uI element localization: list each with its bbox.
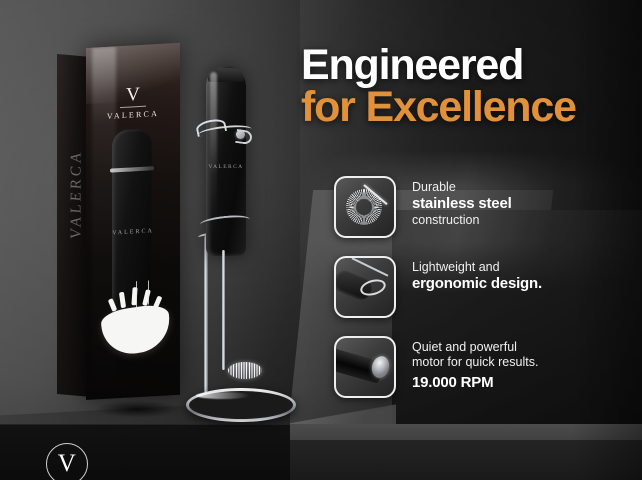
motor-cylinder-icon bbox=[334, 336, 396, 398]
feature-line-2: stainless steel bbox=[412, 195, 512, 213]
box-monogram: V bbox=[86, 83, 180, 107]
feature-line-1: Quiet and powerful bbox=[412, 340, 538, 355]
feature-text: Durable stainless steel construction bbox=[412, 176, 512, 228]
splash-drip-2 bbox=[148, 280, 149, 304]
milk-frother-product: VALERCA bbox=[196, 66, 254, 266]
box-side-panel: VALERCA bbox=[57, 54, 87, 397]
frother-whisk-coil bbox=[228, 362, 262, 379]
splash-crown-2 bbox=[119, 292, 126, 309]
feature-line-1: Lightweight and bbox=[412, 260, 542, 275]
box-floor-shadow bbox=[77, 398, 197, 420]
stand-ring-highlight bbox=[196, 392, 250, 399]
feature-line-3: 19.000 RPM bbox=[412, 374, 538, 392]
frother-whisk-shaft bbox=[222, 250, 225, 370]
box-side-brand-text: VALERCA bbox=[69, 134, 86, 255]
handle-ergonomic-icon bbox=[334, 256, 396, 318]
right-edge-fade bbox=[572, 0, 642, 480]
splash-crown-4 bbox=[142, 289, 151, 306]
milk-splash-graphic bbox=[96, 279, 176, 361]
feature-line-3: construction bbox=[412, 213, 512, 228]
podium-left-face bbox=[0, 424, 290, 480]
splash-crown-1 bbox=[108, 298, 118, 312]
brand-emblem-circle: V bbox=[46, 443, 88, 480]
box-front-panel: V VALERCA VALERCA bbox=[86, 43, 180, 400]
whisk-coil-icon bbox=[334, 176, 396, 238]
splash-drip-1 bbox=[136, 281, 137, 311]
box-logo-rule bbox=[120, 106, 146, 108]
feature-line-1: Durable bbox=[412, 180, 512, 195]
frother-brand-text: VALERCA bbox=[206, 164, 246, 170]
feature-line-2: ergonomic design. bbox=[412, 275, 542, 293]
podium-left-seam bbox=[0, 424, 290, 425]
feature-text: Lightweight and ergonomic design. bbox=[412, 256, 542, 293]
box-brand-name: VALERCA bbox=[86, 108, 180, 122]
ergonomic-wire-shape bbox=[352, 257, 389, 276]
box-brand-logo: V VALERCA bbox=[86, 83, 180, 122]
brand-emblem-monogram: V bbox=[58, 451, 77, 476]
product-box: VALERCA V VALERCA VALERCA bbox=[57, 48, 180, 400]
feature-text: Quiet and powerful motor for quick resul… bbox=[412, 336, 538, 392]
product-marketing-image: VALERCA V VALERCA VALERCA bbox=[0, 0, 642, 480]
feature-line-1b: motor for quick results. bbox=[412, 355, 538, 370]
